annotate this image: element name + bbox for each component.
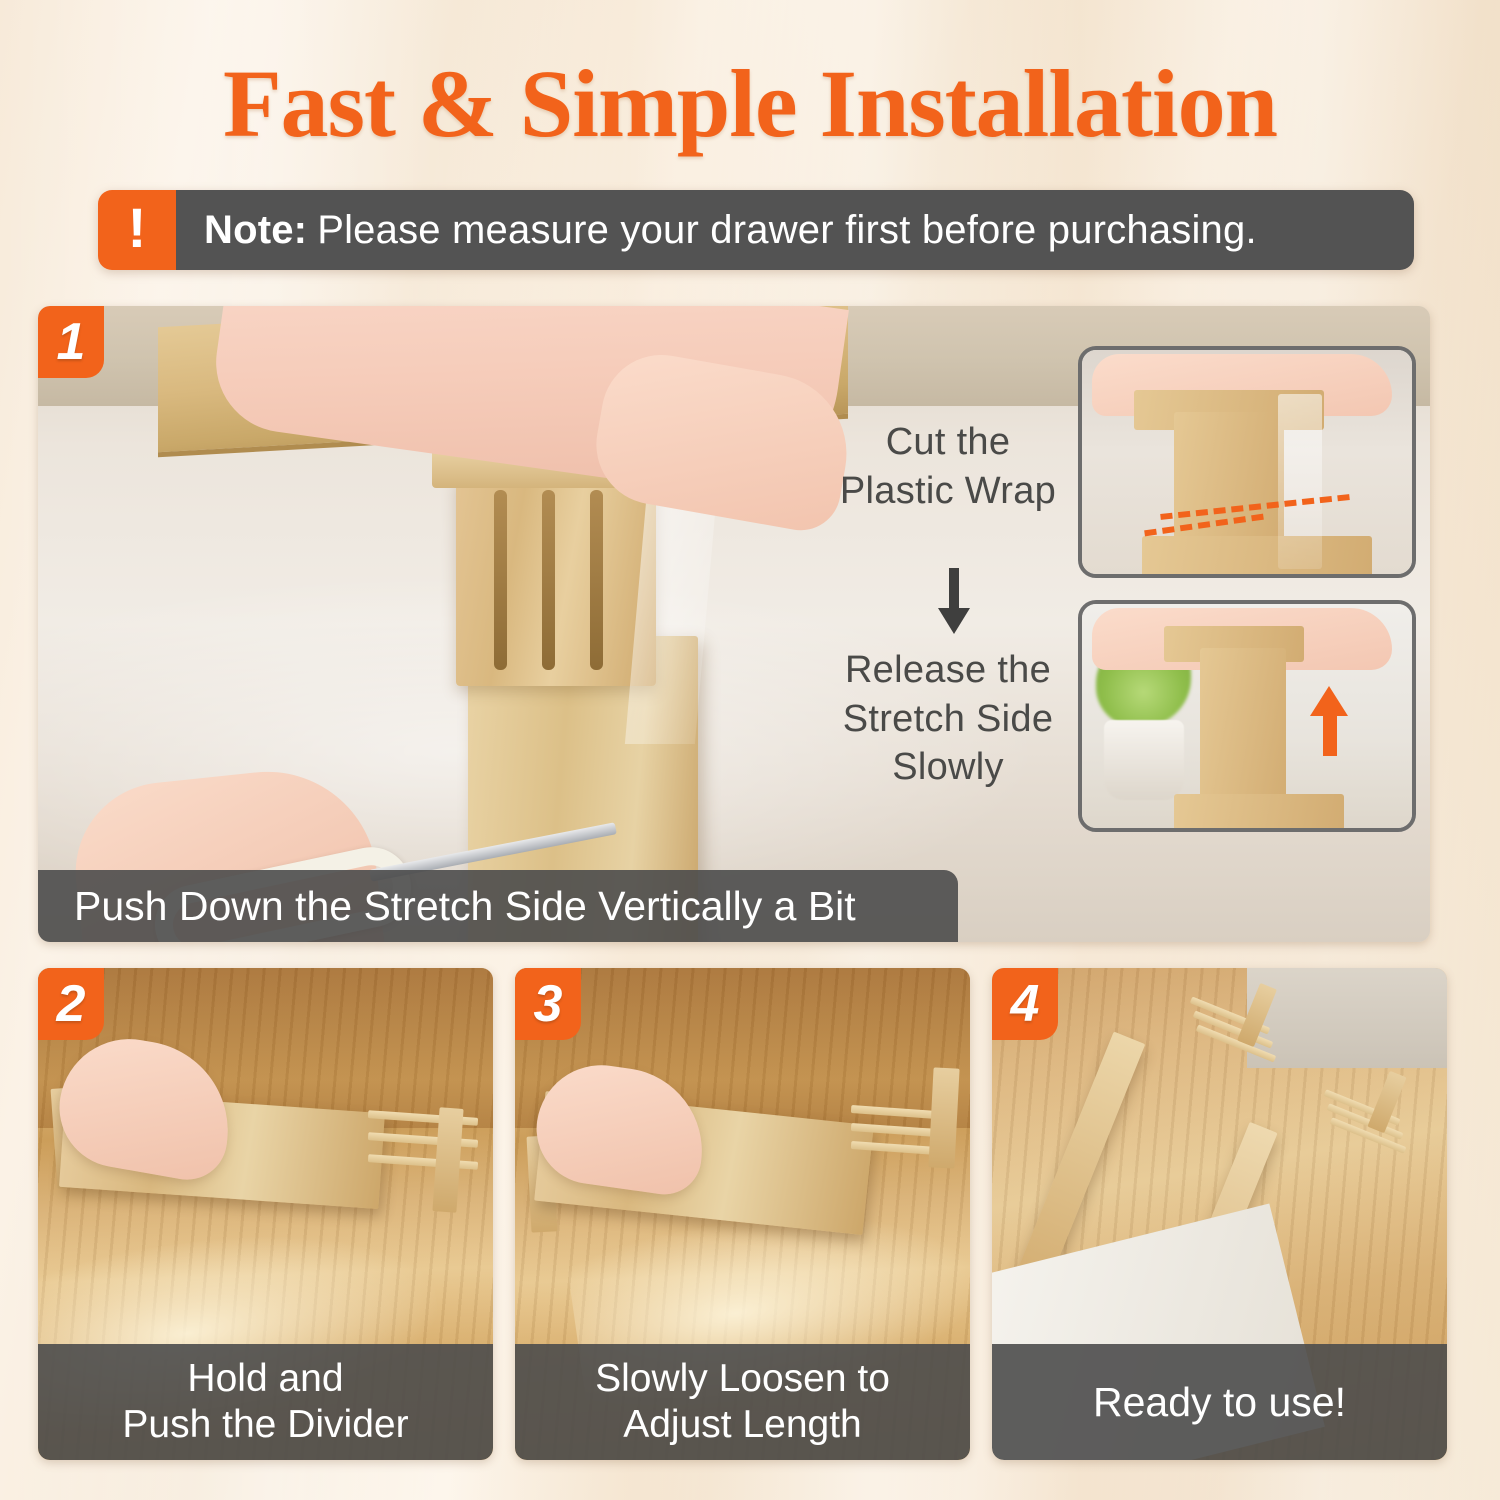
divider-slot-body bbox=[456, 476, 656, 686]
step-4-panel: 4 Ready to use! bbox=[992, 968, 1447, 1460]
step-4-caption: Ready to use! bbox=[992, 1344, 1447, 1460]
cut-plastic-wrap-label: Cut the Plastic Wrap bbox=[798, 418, 1098, 515]
countertop bbox=[1247, 968, 1447, 1068]
divider-base-board bbox=[1142, 536, 1372, 578]
note-banner-text: Note: Please measure your drawer first b… bbox=[176, 190, 1414, 270]
exclamation-icon: ! bbox=[98, 190, 176, 270]
divider-slot bbox=[494, 490, 507, 670]
step-3-caption: Slowly Loosen to Adjust Length bbox=[515, 1344, 970, 1460]
step-1-panel: 1 Cut the Plastic Wrap Release the Stret… bbox=[38, 306, 1430, 942]
step-3-panel: 3 Slowly Loosen to Adjust Length bbox=[515, 968, 970, 1460]
divider-slot-body bbox=[1200, 648, 1286, 818]
step-2-caption: Hold and Push the Divider bbox=[38, 1344, 493, 1460]
divider-end-cap bbox=[928, 1067, 959, 1168]
up-arrow-icon bbox=[1310, 686, 1348, 716]
divider-slot bbox=[542, 490, 555, 670]
down-arrow-icon bbox=[938, 568, 970, 634]
release-stretch-side-inset bbox=[1078, 600, 1416, 832]
step-2-panel: 2 Hold and Push the Divider bbox=[38, 968, 493, 1460]
release-stretch-side-label: Release the Stretch Side Slowly bbox=[778, 646, 1118, 792]
step-2-badge: 2 bbox=[38, 968, 104, 1040]
note-banner: ! Note: Please measure your drawer first… bbox=[98, 190, 1414, 270]
step-1-badge: 1 bbox=[38, 306, 104, 378]
step-4-badge: 4 bbox=[992, 968, 1058, 1040]
divider-slot bbox=[590, 490, 603, 670]
step-1-caption: Push Down the Stretch Side Vertically a … bbox=[38, 870, 958, 942]
cut-plastic-wrap-inset bbox=[1078, 346, 1416, 578]
note-message: Please measure your drawer first before … bbox=[317, 208, 1257, 253]
note-label: Note: bbox=[204, 208, 307, 253]
page-title: Fast & Simple Installation bbox=[0, 54, 1500, 155]
divider-base-board bbox=[1174, 794, 1344, 832]
plastic-wrap bbox=[1278, 394, 1322, 569]
step-3-badge: 3 bbox=[515, 968, 581, 1040]
up-arrow-stem-icon bbox=[1323, 714, 1337, 756]
